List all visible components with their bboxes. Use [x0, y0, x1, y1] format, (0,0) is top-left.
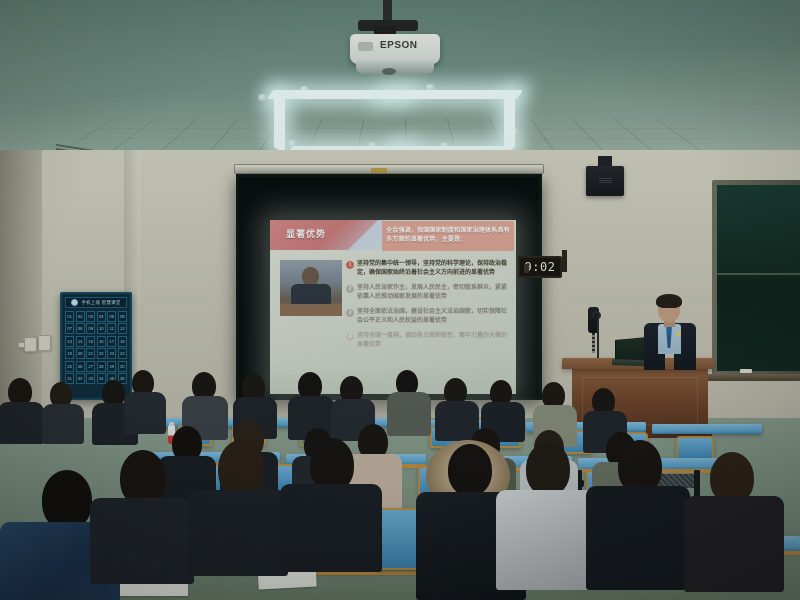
- student-body: [188, 490, 288, 576]
- cabinet-header-label: 手机上墙 智慧课堂: [81, 300, 120, 306]
- school-logo-icon: [71, 299, 78, 306]
- cabinet-slot[interactable]: 09: [86, 323, 95, 334]
- slide-header: 显著优势 全会强调，我国国家制度和国家治理体系具有多方面的显著优势，主要是：: [270, 220, 516, 254]
- slide-bullet-item: 3 坚持全面依法治国，建设社会主义法治国家，切实保障社会公平正义和人民权益的显著…: [346, 308, 512, 326]
- cabinet-slot[interactable]: 17: [107, 336, 116, 347]
- cabinet-slot[interactable]: 26: [76, 361, 85, 372]
- cabinet-slot[interactable]: 33: [86, 373, 95, 384]
- clock-sensor-icon: [524, 264, 529, 273]
- slide-photo-person-body: [291, 284, 331, 306]
- cabinet-slot[interactable]: 03: [86, 311, 95, 322]
- chalkboard-divider: [717, 273, 800, 275]
- cabinet-slot[interactable]: 05: [107, 311, 116, 322]
- cabinet-slot[interactable]: 20: [76, 348, 85, 359]
- slide-bullet-item: 4 坚持全国一盘棋，调动各方面积极性，集中力量办大事的显著优势: [346, 332, 512, 350]
- speaker-grille-icon: [599, 178, 612, 183]
- cabinet-slot[interactable]: 29: [107, 361, 116, 372]
- slide-bullet-number: 4: [346, 333, 354, 341]
- projected-slide: 显著优势 全会强调，我国国家制度和国家治理体系具有多方面的显著优势，主要是： 1…: [270, 220, 516, 394]
- chalkboard-frame: [712, 180, 800, 376]
- projection-screen-roller: [234, 164, 544, 174]
- clock-time-display: 9:02: [525, 260, 556, 274]
- slide-bullet-item: 2 坚持人民当家作主，发展人民民主，密切联系群众，紧紧依靠人民推动国家发展的显著…: [346, 284, 512, 302]
- wall-speaker: [586, 166, 624, 196]
- cabinet-slot[interactable]: 06: [118, 311, 127, 322]
- student-body: [0, 402, 44, 444]
- student-body: [124, 392, 166, 434]
- slide-bullet-text: 坚持全面依法治国，建设社会主义法治国家，切实保障社会公平正义和人民权益的显著优势: [357, 308, 512, 326]
- slide-banner-text: 全会强调，我国国家制度和国家治理体系具有多方面的显著优势，主要是：: [382, 227, 514, 245]
- cabinet-slot[interactable]: 10: [97, 323, 106, 334]
- student-head: [42, 470, 92, 530]
- cabinet-slot[interactable]: 31: [65, 373, 74, 384]
- cabinet-slot[interactable]: 30: [118, 361, 127, 372]
- cabinet-slot[interactable]: 11: [107, 323, 116, 334]
- slide-bullet-number: 2: [346, 285, 354, 293]
- cabinet-slot[interactable]: 16: [97, 336, 106, 347]
- student-body: [586, 486, 690, 590]
- presenter-lapel-badge-icon: [676, 331, 681, 336]
- ceiling-spot-icon: [258, 94, 267, 101]
- projector-lens-icon: [382, 68, 396, 75]
- phone-cord: [592, 333, 595, 353]
- cabinet-slot[interactable]: 08: [76, 323, 85, 334]
- cabinet-slot[interactable]: 28: [97, 361, 106, 372]
- cabinet-slot[interactable]: 13: [65, 336, 74, 347]
- digital-wall-clock: 9:02: [518, 256, 562, 278]
- slide-badge-label: 显著优势: [286, 227, 326, 240]
- cabinet-slot[interactable]: 32: [76, 373, 85, 384]
- cabinet-slot[interactable]: 14: [76, 336, 85, 347]
- cabinet-slot-grid: 01 02 03 04 05 06 07 08 09 10 11 12 13 1…: [65, 311, 127, 384]
- projection-screen: 显著优势 全会强调，我国国家制度和国家治理体系具有多方面的显著优势，主要是： 1…: [236, 174, 542, 400]
- lecture-hall-photo: EPSON 显著优势 全会强调，我国国家制度和国家治理体系具有多方面的显著优势，…: [0, 0, 800, 600]
- cabinet-slot[interactable]: 34: [97, 373, 106, 384]
- cabinet-slot[interactable]: 12: [118, 323, 127, 334]
- cabinet-slot[interactable]: 24: [118, 348, 127, 359]
- student-head: [448, 444, 492, 496]
- student-body: [90, 498, 194, 584]
- slide-bullet-list: 1 坚持党的集中统一领导，坚持党的科学理论，保持政治稳定，确保国家始终沿着社会主…: [346, 260, 512, 356]
- slide-banner-band: 全会强调，我国国家制度和国家治理体系具有多方面的显著优势，主要是：: [382, 221, 514, 251]
- light-switch-plate[interactable]: [24, 337, 37, 352]
- student-head: [526, 442, 570, 496]
- cabinet-slot[interactable]: 07: [65, 323, 74, 334]
- chalkboard: [717, 185, 800, 371]
- roller-label-tab: [371, 168, 387, 173]
- cabinet-slot[interactable]: 18: [118, 336, 127, 347]
- slide-inset-photo: [280, 260, 342, 316]
- cabinet-slot[interactable]: 21: [86, 348, 95, 359]
- cabinet-slot[interactable]: 15: [86, 336, 95, 347]
- slide-bullet-text: 坚持人民当家作主，发展人民民主，密切联系群众，紧紧依靠人民推动国家发展的显著优势: [357, 284, 512, 302]
- presenter-person: [640, 296, 700, 370]
- slide-photo-desk: [280, 304, 342, 316]
- cabinet-slot[interactable]: 27: [86, 361, 95, 372]
- slide-bullet-number: 3: [346, 309, 354, 317]
- bottle-cap-icon: [169, 422, 174, 426]
- slide-bullet-text: 坚持党的集中统一领导，坚持党的科学理论，保持政治稳定，确保国家始终沿着社会主义方…: [357, 260, 512, 278]
- chalk-piece-icon: [740, 369, 752, 373]
- desk-row-far: [652, 424, 762, 434]
- cabinet-slot[interactable]: 19: [65, 348, 74, 359]
- cabinet-slot[interactable]: 23: [107, 348, 116, 359]
- projector-brand-label: EPSON: [380, 40, 418, 51]
- clock-mount: [562, 250, 567, 272]
- slide-bullet-number: 1: [346, 261, 354, 269]
- cabinet-header: 手机上墙 智慧课堂: [65, 297, 127, 308]
- presenter-hair: [656, 294, 682, 308]
- light-switch-plate[interactable]: [38, 335, 51, 351]
- chalkboard-tray: [706, 374, 800, 381]
- student-body: [280, 484, 382, 572]
- student-body: [42, 404, 84, 444]
- student-body: [387, 392, 431, 436]
- slide-bullet-item: 1 坚持党的集中统一领导，坚持党的科学理论，保持政治稳定，确保国家始终沿着社会主…: [346, 260, 512, 278]
- cabinet-slot[interactable]: 04: [97, 311, 106, 322]
- cabinet-slot[interactable]: 25: [65, 361, 74, 372]
- cabinet-slot[interactable]: 01: [65, 311, 74, 322]
- projector-indicator-panel: [358, 42, 373, 51]
- slide-bullet-text: 坚持全国一盘棋，调动各方面积极性，集中力量办大事的显著优势: [357, 332, 512, 350]
- student-jacket: [496, 490, 598, 590]
- microphone-stand: [597, 316, 599, 358]
- student-body: [684, 496, 784, 592]
- projector-ceiling-mount: [383, 0, 392, 22]
- cabinet-slot[interactable]: 22: [97, 348, 106, 359]
- cabinet-slot[interactable]: 02: [76, 311, 85, 322]
